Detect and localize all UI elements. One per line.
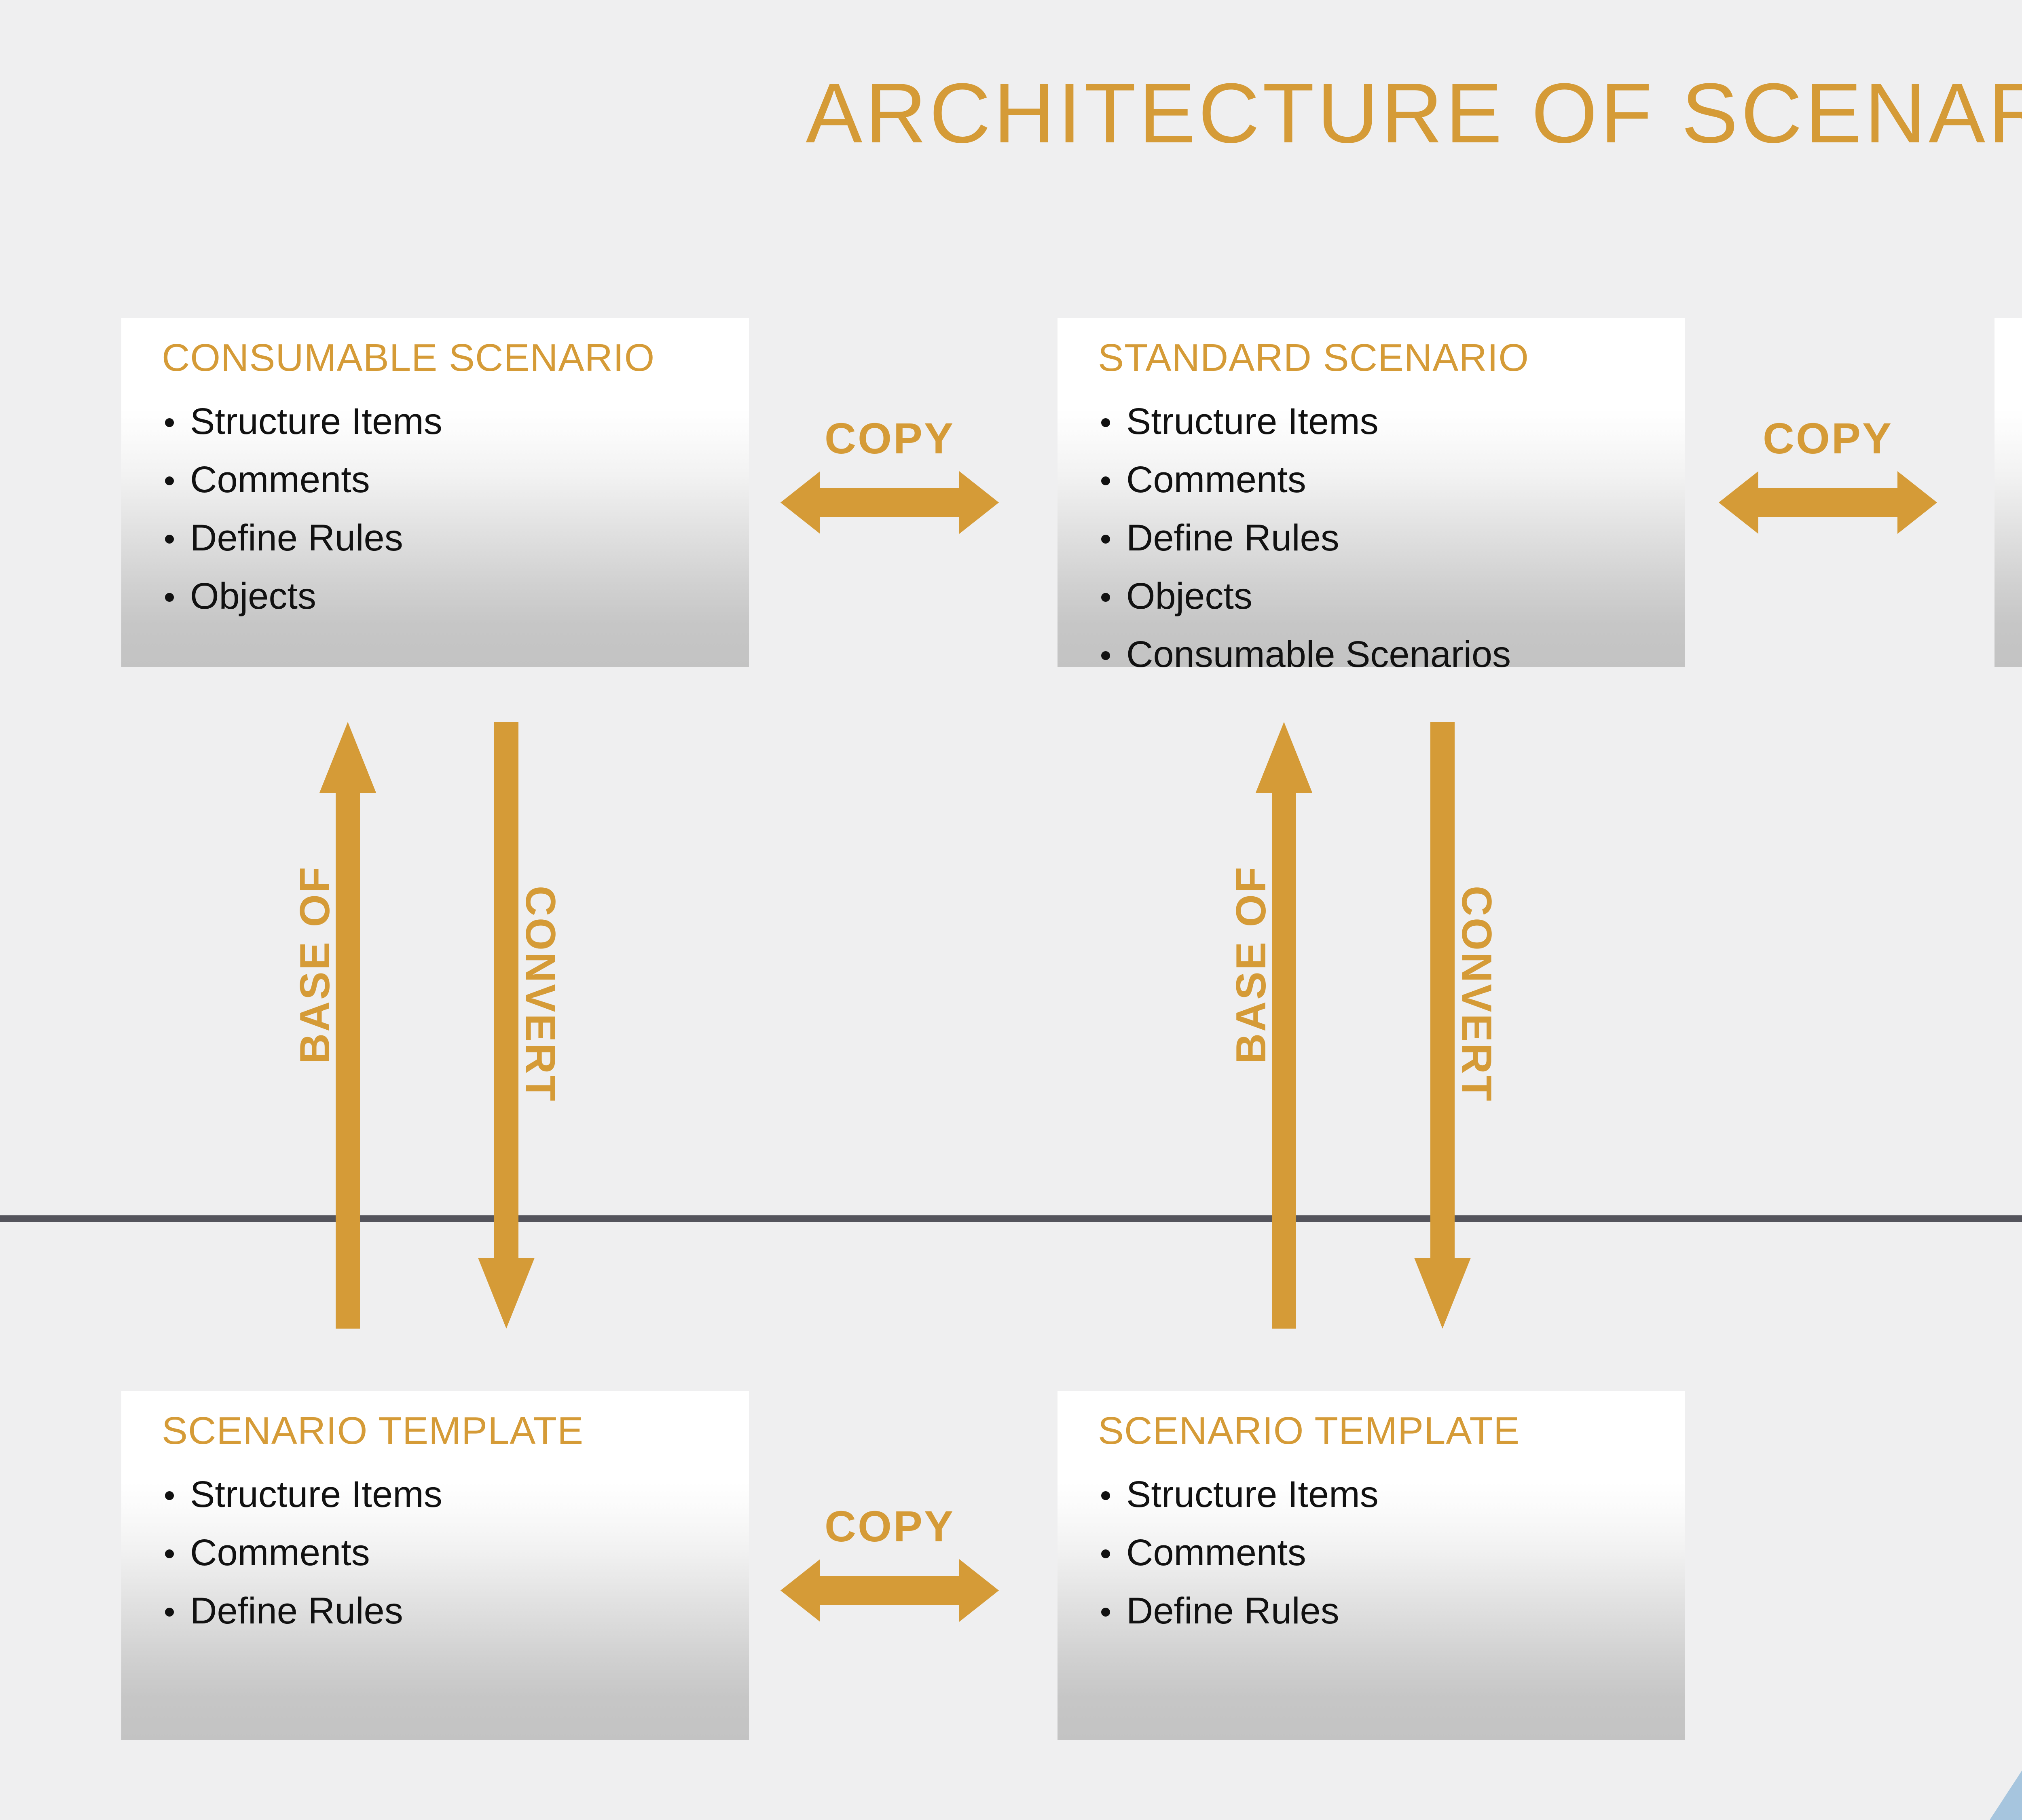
page-title: ARCHITECTURE OF SCENARIOS bbox=[0, 71, 2022, 156]
list-item: Consumable Scenarios bbox=[1126, 636, 1685, 673]
card-scenario-template-left[interactable]: SCENARIO TEMPLATE Structure Items Commen… bbox=[121, 1391, 749, 1740]
list-item: Comments bbox=[1126, 1534, 1685, 1571]
level-divider-line bbox=[0, 1215, 2022, 1222]
label-convert-left: CONVERT bbox=[516, 886, 564, 1103]
list-item: Structure Items bbox=[1126, 403, 1685, 440]
connector-copy-top-right[interactable]: COPY bbox=[1719, 417, 1937, 538]
light-blue-band bbox=[1990, 0, 2022, 1820]
double-arrow-horizontal-icon bbox=[780, 471, 999, 534]
double-arrow-horizontal-icon bbox=[780, 1559, 999, 1622]
list-item: Define Rules bbox=[1126, 1592, 1685, 1630]
list-item: Structure Items bbox=[1126, 1476, 1685, 1513]
label-base-of-left: BASE OF bbox=[291, 866, 339, 1064]
connector-copy-bottom[interactable]: COPY bbox=[780, 1505, 999, 1626]
copy-label: COPY bbox=[780, 1505, 999, 1548]
card-bullet-list: Structure Items Comments Define Rules bbox=[162, 1476, 749, 1630]
card-title: SCENARIO TEMPLATE bbox=[162, 1411, 749, 1452]
card-title: CONSUMABLE SCENARIO bbox=[162, 338, 749, 379]
list-item: Comments bbox=[190, 461, 749, 498]
list-item: Objects bbox=[190, 578, 749, 615]
copy-label: COPY bbox=[1719, 417, 1937, 460]
list-item: Define Rules bbox=[1126, 519, 1685, 557]
card-bullet-list: Structure Items Comments Define Rules bbox=[1098, 1476, 1685, 1630]
double-arrow-horizontal-icon bbox=[1719, 471, 1937, 534]
list-item: Comments bbox=[190, 1534, 749, 1571]
card-consumable-scenario[interactable]: CONSUMABLE SCENARIO Structure Items Comm… bbox=[121, 318, 749, 667]
connector-copy-top-left[interactable]: COPY bbox=[780, 417, 999, 538]
card-title: SCENARIO TEMPLATE bbox=[1098, 1411, 1685, 1452]
slide-canvas: ARCHITECTURE OF SCENARIOS CONSUMABLE SCE… bbox=[0, 0, 2022, 1820]
list-item: Structure Items bbox=[190, 1476, 749, 1513]
label-convert-middle: CONVERT bbox=[1452, 886, 1500, 1103]
list-item: Comments bbox=[1126, 461, 1685, 498]
card-standard-scenario-right[interactable]: STANDARD SCENARIO Structure Items Commen… bbox=[1995, 318, 2022, 667]
card-bullet-list: Structure Items Comments Define Rules Ob… bbox=[162, 403, 749, 615]
label-base-of-middle: BASE OF bbox=[1227, 866, 1275, 1064]
card-title: STANDARD SCENARIO bbox=[1098, 338, 1685, 379]
list-item: Define Rules bbox=[190, 519, 749, 557]
card-bullet-list: Structure Items Comments Define Rules Ob… bbox=[1098, 403, 1685, 673]
card-standard-scenario-middle[interactable]: STANDARD SCENARIO Structure Items Commen… bbox=[1058, 318, 1685, 667]
card-scenario-template-middle[interactable]: SCENARIO TEMPLATE Structure Items Commen… bbox=[1058, 1391, 1685, 1740]
copy-label: COPY bbox=[780, 417, 999, 460]
list-item: Structure Items bbox=[190, 403, 749, 440]
list-item: Objects bbox=[1126, 578, 1685, 615]
list-item: Define Rules bbox=[190, 1592, 749, 1630]
